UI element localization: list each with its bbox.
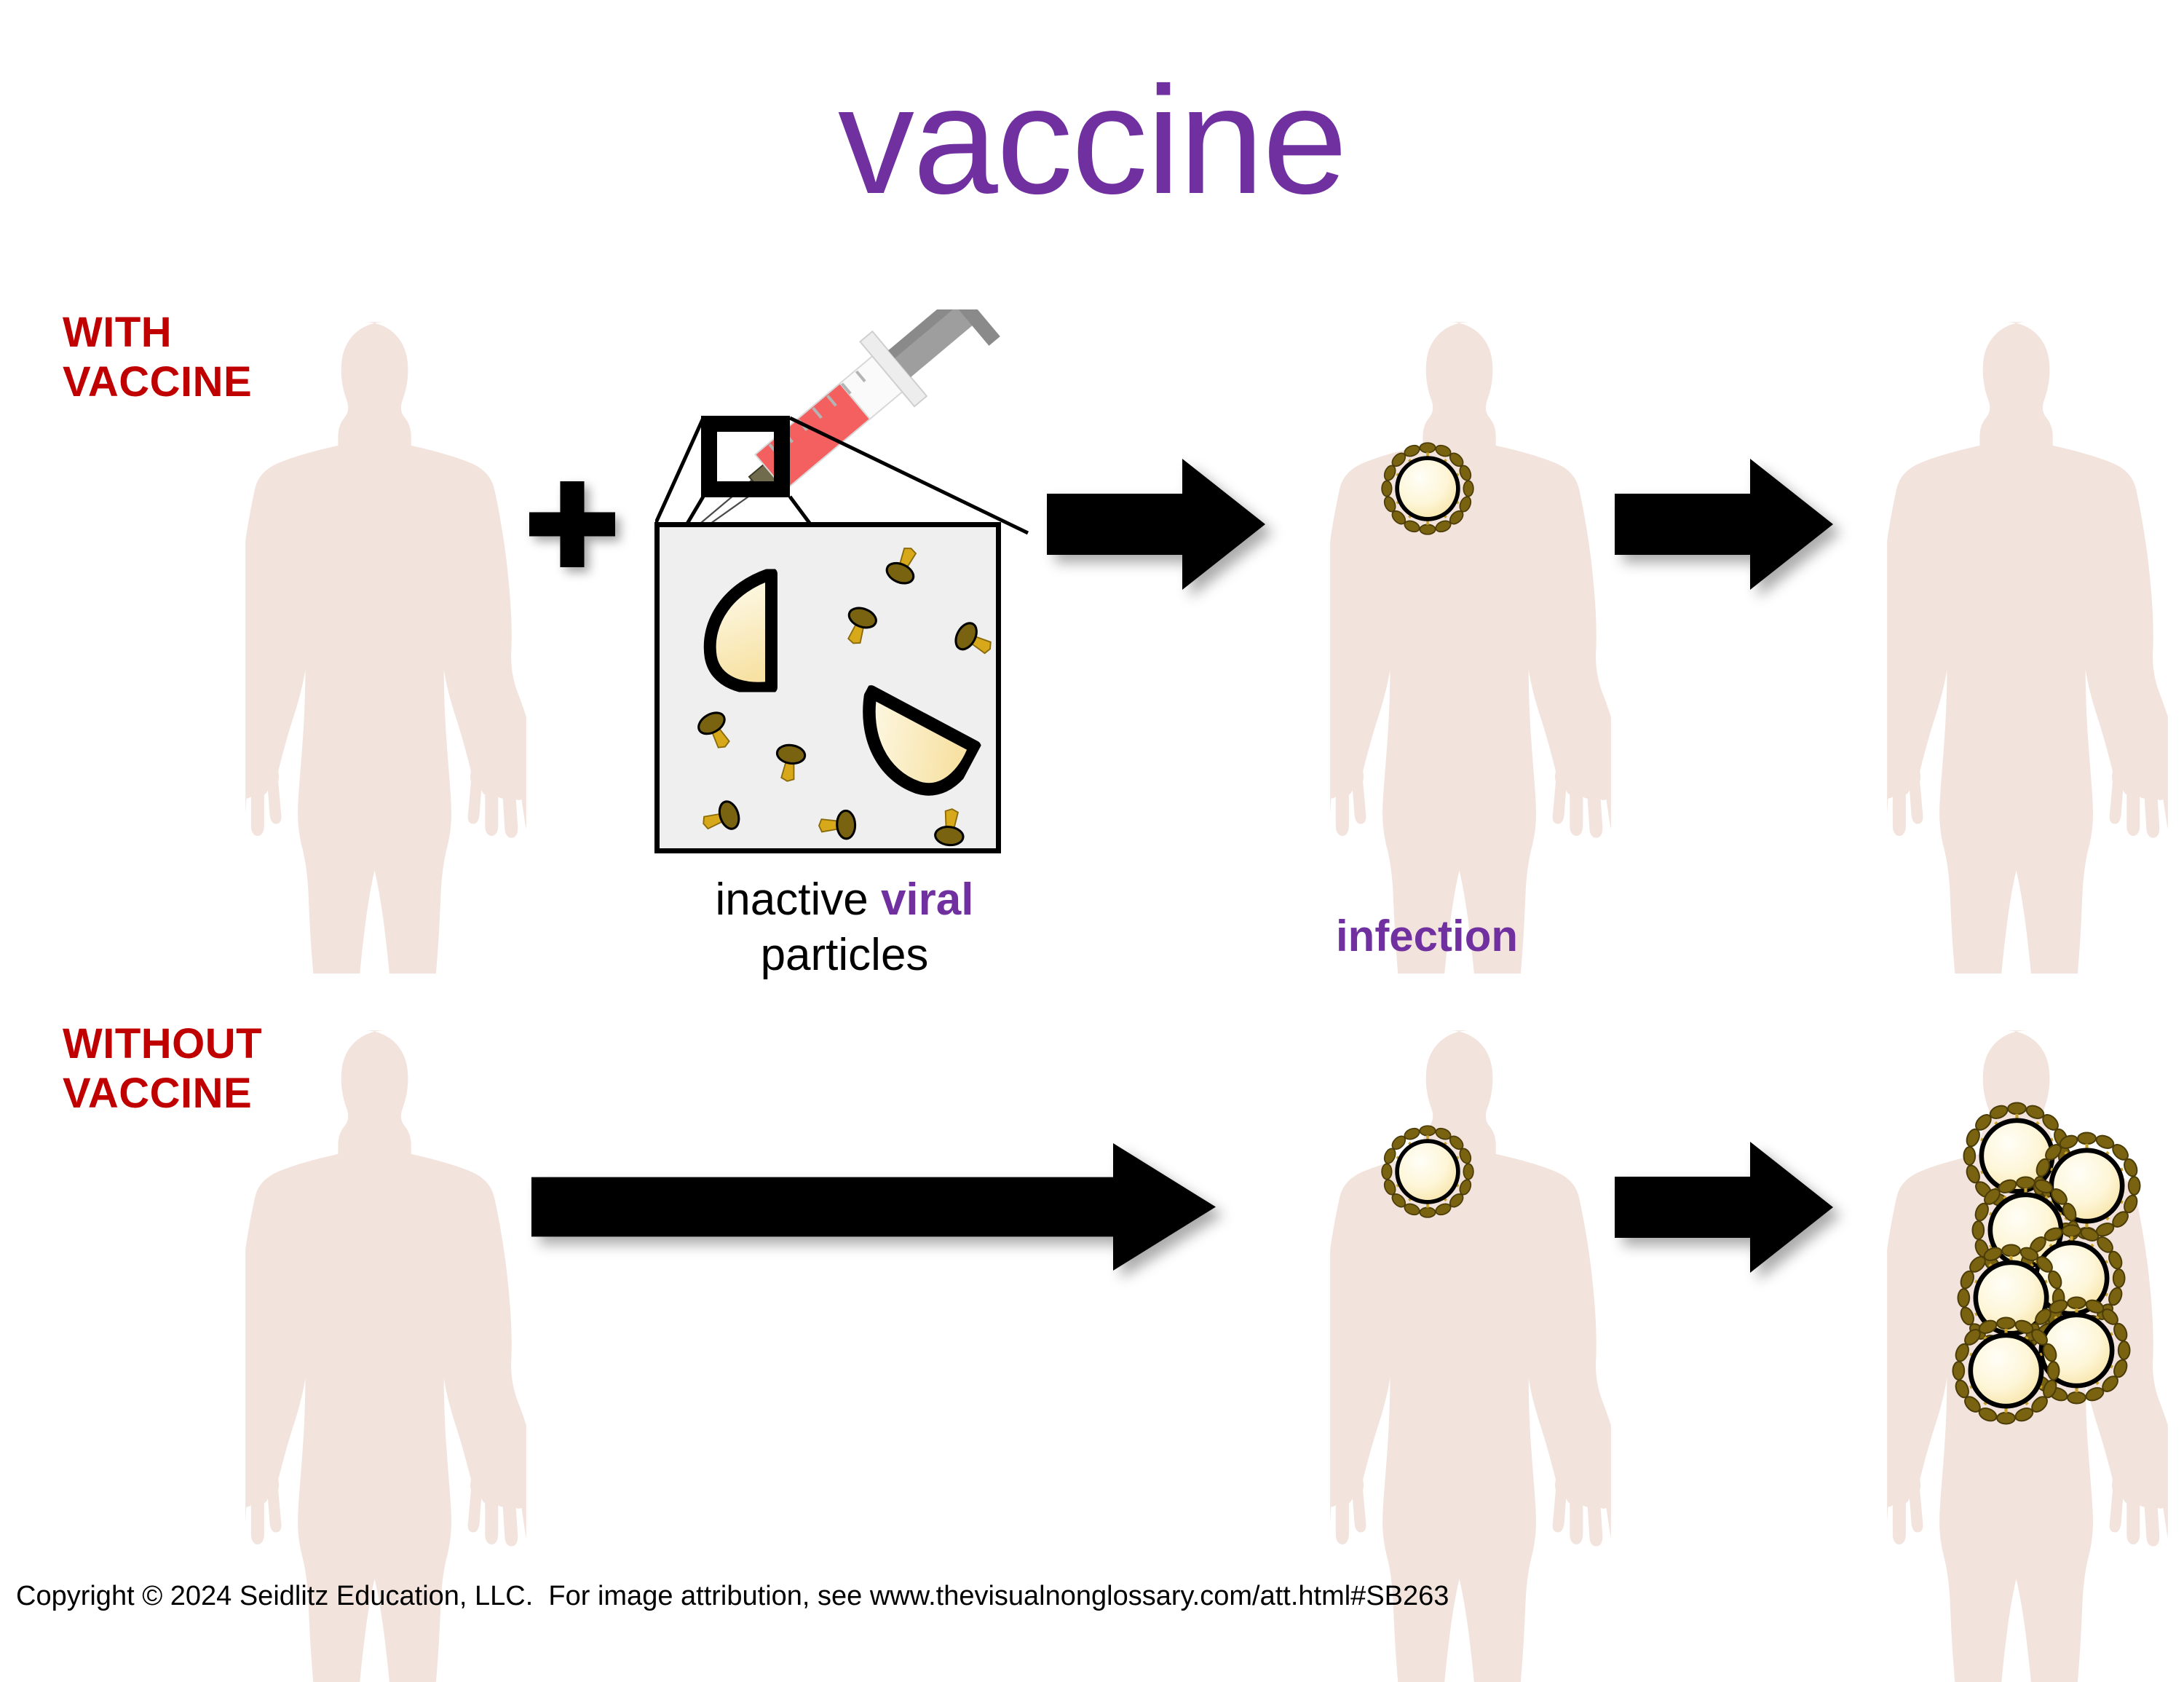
- plus-sign-icon: [529, 481, 615, 567]
- magnified-particles-panel: [654, 522, 1001, 853]
- caption-inactive-viral-particles: inactive viral particles: [597, 872, 1092, 982]
- body-with-row-left: [229, 318, 542, 974]
- row-label-with-vaccine: WITH VACCINE: [63, 308, 252, 408]
- diagram-canvas: vaccine WITH VACCINE WITHOUT VACCINE: [0, 0, 2184, 1638]
- caption-word-particles: particles: [761, 930, 929, 980]
- viral-spike-protein-icon: [815, 802, 861, 848]
- viral-spike-protein-icon: [693, 789, 750, 846]
- right-arrow-icon-exposure-to-infection: [531, 1143, 1216, 1271]
- right-arrow-icon-infection-to-spread: [1615, 1142, 1833, 1273]
- viral-spike-protein-icon: [831, 596, 888, 654]
- caption-word-viral: viral: [881, 874, 974, 925]
- caption-word-inactive: inactive: [716, 874, 881, 925]
- viral-spike-protein-icon: [943, 609, 1004, 671]
- virus-particle-icon: [1376, 1120, 1479, 1223]
- virus-particle-icon: [1376, 437, 1479, 540]
- viral-spike-protein-icon: [925, 803, 975, 853]
- body-with-row-middle: [1314, 318, 1627, 974]
- virus-particle-icon: [1946, 1311, 2066, 1431]
- broken-virus-shell-icon: [700, 553, 795, 708]
- viral-spike-protein-icon: [764, 737, 815, 788]
- caption-infection: infection: [1165, 909, 1689, 963]
- page-title: vaccine: [0, 64, 2184, 217]
- right-arrow-icon-vaccine-to-infection: [1047, 459, 1265, 590]
- viral-spike-protein-icon: [685, 700, 747, 762]
- viral-spike-protein-icon: [874, 536, 933, 596]
- body-with-row-right: [1871, 318, 2184, 974]
- right-arrow-icon-infection-to-recovery: [1615, 459, 1833, 590]
- footer-copyright: Copyright © 2024 Seidlitz Education, LLC…: [16, 1581, 1449, 1612]
